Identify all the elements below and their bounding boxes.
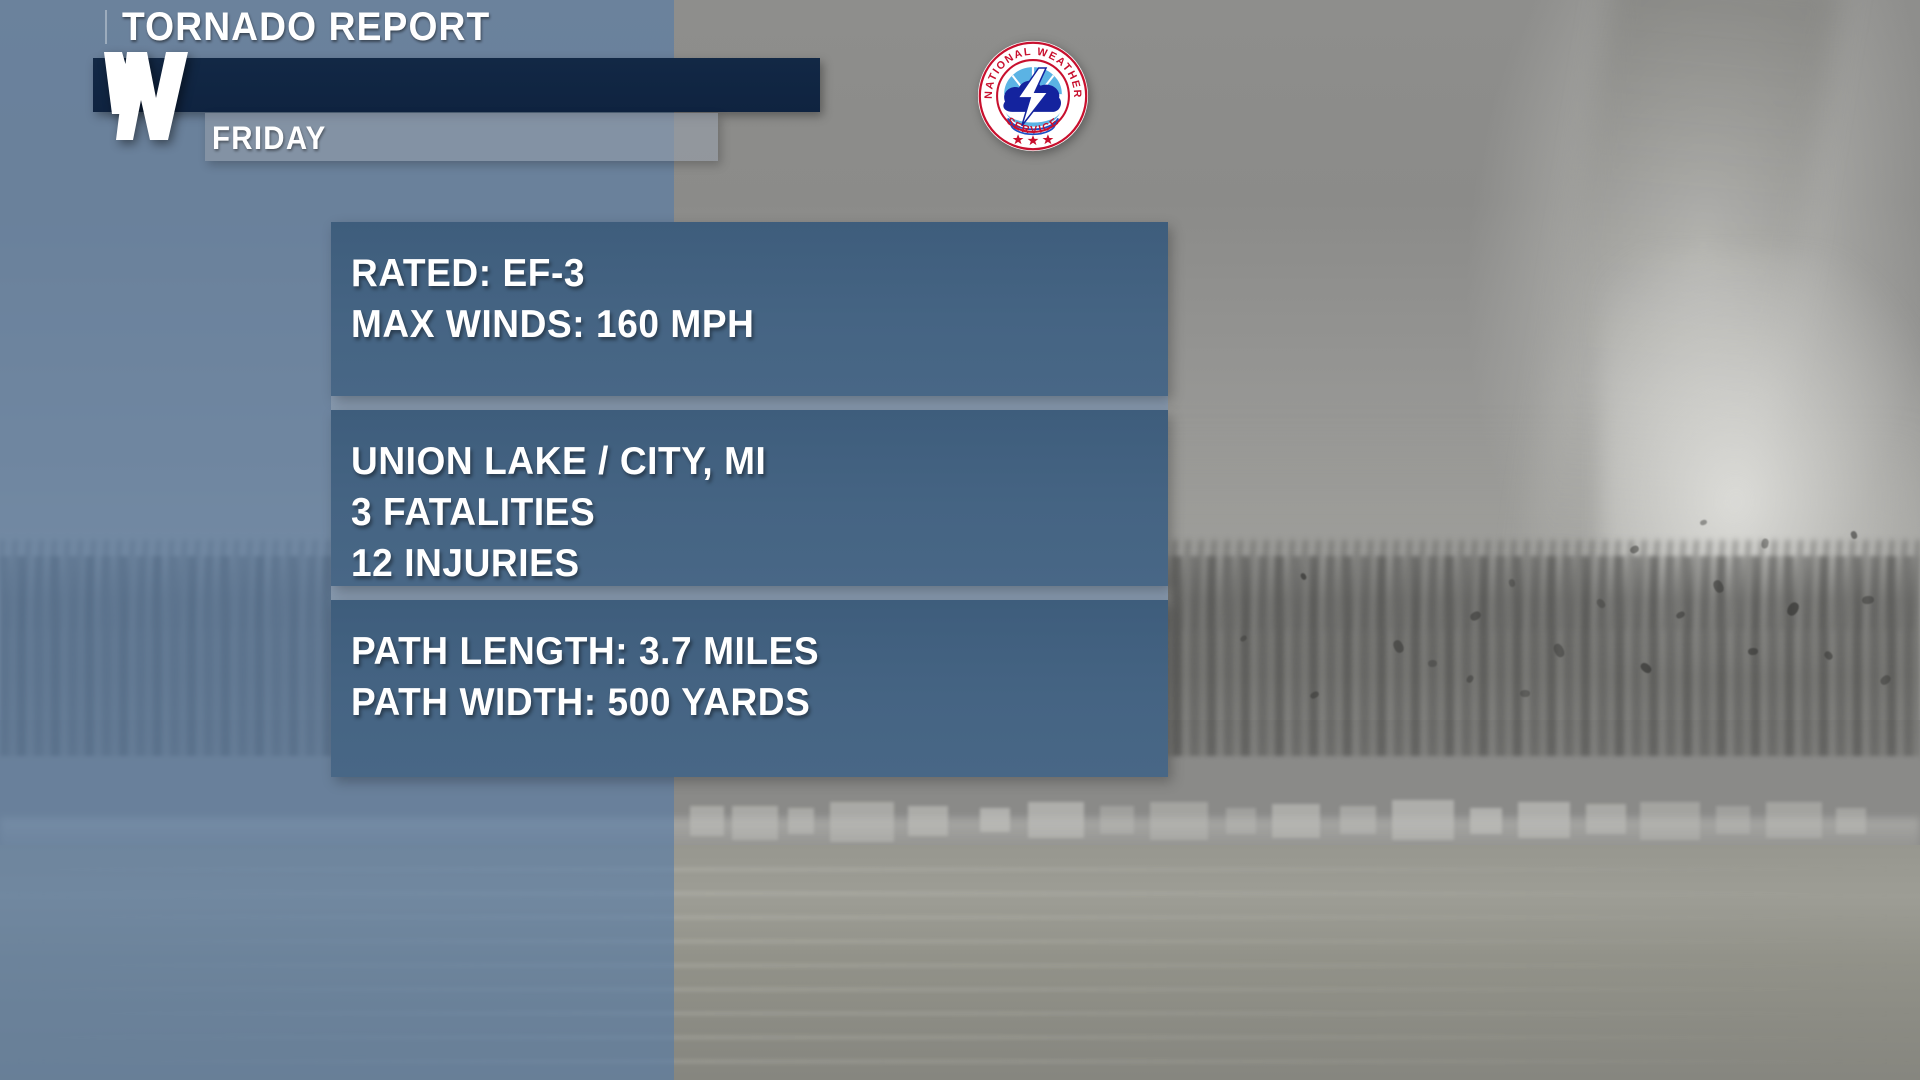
path-panel: PATH LENGTH: 3.7 MILES PATH WIDTH: 500 Y… [331,600,1168,777]
page-title: TORNADO REPORT [122,3,490,51]
header: TORNADO REPORT FRIDAY [0,0,1200,175]
rating-panel: RATED: EF-3 MAX WINDS: 160 MPH [331,222,1168,396]
report-panels: RATED: EF-3 MAX WINDS: 160 MPH UNION LAK… [331,222,1168,777]
panel-line: 3 FATALITIES [351,487,1127,538]
title-divider [105,10,107,44]
title-bar [93,58,820,112]
weathernation-w-logo [100,48,192,144]
subtitle-day: FRIDAY [212,118,327,158]
panel-line: UNION LAKE / CITY, MI [351,436,1127,487]
location-impact-panel: UNION LAKE / CITY, MI 3 FATALITIES 12 IN… [331,410,1168,586]
national-weather-service-seal: NATIONAL WEATHER SERVICE [977,40,1089,152]
panel-line: RATED: EF-3 [351,248,1127,299]
panel-line: MAX WINDS: 160 MPH [351,299,1127,350]
panel-line: 12 INJURIES [351,538,1127,589]
panel-separator [331,396,1168,410]
panel-line: PATH WIDTH: 500 YARDS [351,677,1127,728]
panel-line: PATH LENGTH: 3.7 MILES [351,626,1127,677]
